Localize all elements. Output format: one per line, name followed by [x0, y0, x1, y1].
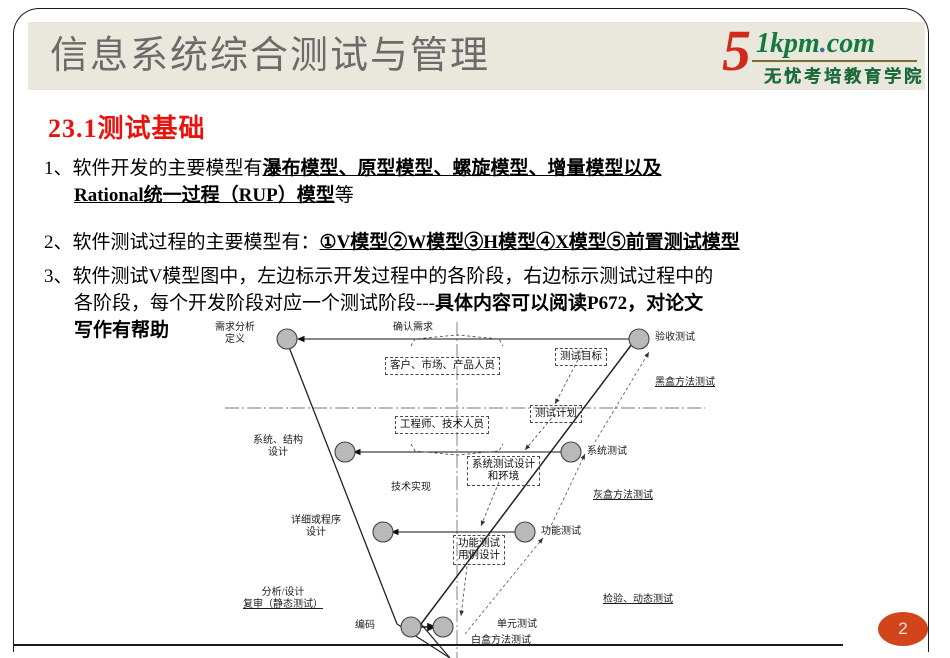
label-requirements-line2: 定义 [225, 334, 245, 345]
bullet-3-line2: 各阶段，每个开发阶段对应一个测试阶段---具体内容可以阅读P672，对论文 [44, 290, 864, 317]
box-system-test-design-env: 系统测试设计 和环境 [467, 456, 540, 486]
page-title: 信息系统综合测试与管理 [50, 27, 490, 85]
label-requirements-analysis: 需求分析 定义 [215, 322, 255, 346]
bullet-3-line2-bold: 具体内容可以阅读P672，对论文 [435, 293, 703, 314]
bullet-1-text-plain: 软件开发的主要模型有 [73, 158, 263, 179]
bullet-1-number: 1、 [44, 158, 73, 179]
node-function-test [515, 522, 535, 542]
label-review-line1: 分析/设计 [262, 587, 305, 598]
logo-numeral-5: 5 [722, 22, 751, 80]
bullet-2-number: 2、 [44, 232, 73, 253]
dotted-graybox-upper [549, 454, 585, 530]
box-func-test-line2: 用例设计 [458, 550, 500, 561]
label-unit-test: 单元测试 [497, 619, 537, 631]
label-graybox-method: 灰盒方法测试 [593, 490, 653, 502]
bullet-1-text-underline: 瀑布模型、原型模型、螺旋模型、增量模型以及 [263, 158, 662, 179]
label-detail-design-line1: 详细或程序 [291, 515, 341, 526]
node-requirements [277, 329, 297, 349]
page-number-badge: 2 [878, 612, 928, 646]
label-system-design-line1: 系统、结构 [253, 435, 303, 446]
bullet-1-line2-plain: 等 [335, 185, 354, 206]
bullet-1-line2-underline: Rational统一过程（RUP）模型 [74, 185, 335, 206]
label-blackbox-method: 黑盒方法测试 [655, 377, 715, 389]
bullet-3-line2-plain: 各阶段，每个开发阶段对应一个测试阶段--- [74, 293, 435, 314]
label-analysis-design-review: 分析/设计 复审（静态测试） [243, 587, 323, 611]
label-confirm-requirements: 确认需求 [393, 322, 433, 334]
bullet-2-text-plain: 软件测试过程的主要模型有： [73, 232, 320, 253]
logo-domain-part-2: . [820, 28, 827, 59]
label-function-test: 功能测试 [541, 526, 581, 538]
label-detail-design-line2: 设计 [306, 527, 326, 538]
label-technical-implementation: 技术实现 [391, 482, 431, 494]
logo-subtitle: 无忧考培教育学院 [764, 62, 924, 87]
dev-limb [287, 342, 397, 624]
logo-domain-part-1: 1kpm [756, 28, 820, 59]
box-func-test-line1: 功能测试 [458, 538, 500, 549]
bottom-divider [13, 644, 843, 646]
box-function-test-case-design: 功能测试 用例设计 [453, 535, 505, 565]
node-detail-design [373, 522, 393, 542]
v-model-diagram: 需求分析 定义 系统、结构 设计 详细或程序 设计 编码 验收测试 系统测试 功… [225, 322, 705, 658]
label-inspection-dynamic-test: 检验、动态测试 [603, 594, 673, 606]
box-test-goal: 测试目标 [555, 348, 607, 366]
node-system-design [335, 442, 355, 462]
bullet-1-line2: Rational统一过程（RUP）模型等 [44, 182, 904, 209]
site-logo: 5 1kpm.com 无忧考培教育学院 [720, 24, 920, 88]
label-detail-program-design: 详细或程序 设计 [291, 515, 341, 539]
node-system-test [561, 442, 581, 462]
box-customers-market-product: 客户、市场、产品人员 [385, 357, 500, 375]
label-coding: 编码 [355, 620, 375, 632]
box-sys-test-line2: 和环境 [488, 471, 520, 482]
section-heading: 23.1测试基础 [48, 108, 206, 145]
bullet-item-1: 1、软件开发的主要模型有瀑布模型、原型模型、螺旋模型、增量模型以及 Ration… [44, 155, 904, 209]
label-review-line2: 复审（静态测试） [243, 599, 323, 610]
label-requirements-line1: 需求分析 [215, 322, 255, 333]
label-system-structure-design: 系统、结构 设计 [253, 435, 303, 459]
bullet-2-text-underline: ①V模型②W模型③H模型④X模型⑤前置测试模型 [320, 232, 740, 253]
node-acceptance-test [629, 329, 649, 349]
box-sys-test-line1: 系统测试设计 [472, 459, 535, 470]
node-unit-test [433, 617, 453, 637]
logo-domain-text: 1kpm.com [756, 28, 875, 60]
label-system-test: 系统测试 [587, 446, 627, 458]
bullet-item-2: 2、软件测试过程的主要模型有：①V模型②W模型③H模型④X模型⑤前置测试模型 [44, 229, 924, 256]
label-system-design-line2: 设计 [268, 447, 288, 458]
box-test-plan: 测试计划 [530, 405, 582, 423]
logo-domain-part-3: com [827, 28, 875, 59]
box-engineers-technicians: 工程师、技术人员 [395, 416, 489, 434]
bullet-3-number: 3、 [44, 266, 73, 287]
node-coding [401, 617, 421, 637]
label-acceptance-test: 验收测试 [655, 332, 695, 344]
bullet-3-line1: 软件测试V模型图中，左边标示开发过程中的各阶段，右边标示测试过程中的 [73, 266, 714, 287]
